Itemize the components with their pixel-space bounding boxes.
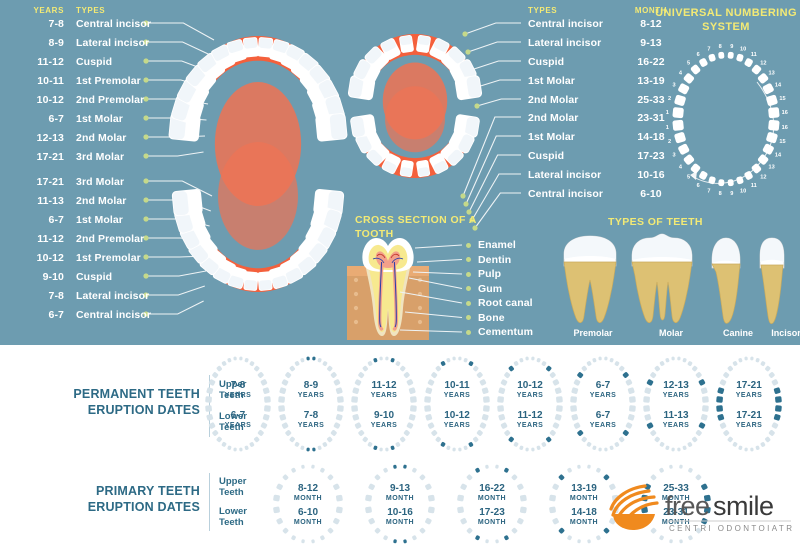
tooth-dim [395,361,401,367]
tooth-dim [452,447,456,451]
tooth-dim [727,365,734,372]
tooth-dim [587,539,591,543]
primary-column: 16-22MONTH17-23MONTH [449,462,535,546]
type-label: Lateral incisor [528,37,628,49]
tooth-dim [301,465,305,469]
tooth-dim [463,445,468,450]
tooth-dim [677,447,681,451]
cross-section-label: Root canal [478,297,533,309]
tooth-dim [764,365,771,372]
tooth-dim [326,436,333,443]
infographic-root: YEARS TYPES 7-8Central incisor8-9Lateral… [0,0,800,547]
years-value: 11-12 [18,56,64,68]
universal-tooth-upper [736,53,744,62]
primary-lower-value: 6-10MONTH [265,507,351,527]
universal-number-lower: 3 [672,152,675,158]
universal-tooth-upper [674,94,687,106]
tooth-dim [300,358,305,363]
tooth-dim [412,535,418,541]
primary-divider [209,473,210,531]
tooth-dim [732,361,738,367]
type-label: Cuspid [64,56,112,68]
tooth-dim [679,464,683,468]
value-range: 8-12 [265,483,351,494]
years-value: 7-8 [18,18,64,30]
tooth-highlighted [558,474,565,481]
tooth-dim [463,358,468,363]
tooth [257,271,273,291]
tooth-dim [446,445,451,450]
universal-number-lower: 1 [666,125,669,131]
tooth-dim [431,429,438,436]
left-table-row: 7-8Lateral incisor [18,286,151,305]
tooth [416,160,431,178]
tooth-dim [249,361,255,367]
tooth-dim [412,467,418,473]
type-label: 3rd Molar [64,176,124,188]
value-unit: YEARS [494,391,566,400]
types-of-teeth-title-wrap: TYPES OF TEETH [608,215,793,229]
years-value: 17-21 [18,151,64,163]
left-table-row: 6-71st Molar [18,210,151,229]
tooth-dim [665,358,670,363]
value-range: 8-9 [275,380,347,391]
tooth-dim [519,358,524,363]
tooth-dim [322,361,328,367]
tooth-dim [536,445,541,450]
tooth-dim [531,356,535,360]
tooth-dim [291,535,297,541]
permanent-lower-value: 6-7YEARS [567,410,639,430]
tooth-dim [399,436,406,443]
mini-mouth-diagram [357,462,443,546]
tooth-dim [723,429,730,436]
tooth-highlighted [403,539,407,543]
mini-mouth-diagram [348,352,420,456]
tooth [399,160,414,178]
tooth-dim [695,429,702,436]
tooth-dim [227,445,232,450]
value-range: 7-8 [202,380,274,391]
type-label: Lateral incisor [64,37,149,49]
left-table-row: 11-132nd Molar [18,191,151,210]
universal-number-lower: 16 [782,125,788,131]
bullet-dot [466,315,471,320]
tooth [454,75,482,101]
tooth-highlighted [393,465,397,469]
tooth [350,114,377,139]
tooth-dim [221,441,227,447]
universal-number-lower: 8 [719,191,722,197]
tooth-dim [289,436,296,443]
tooth-dim [732,441,738,447]
tooth-highlighted [403,464,407,468]
tooth-dim [385,447,389,451]
tooth-dim [541,442,547,448]
value-range: 6-7 [567,380,639,391]
tooth-cross-section-illustration [343,232,433,340]
mini-mouth-diagram [567,352,639,456]
tooth-dim [419,527,426,534]
tooth-dim [294,441,300,447]
permanent-column: 12-13YEARS11-13YEARS [640,352,712,456]
type-label: 2nd Premolar [64,233,144,245]
tooth-dim [485,465,489,469]
tooth-dim [768,371,775,378]
tooth-dim [513,441,519,447]
tooth-dim [750,356,754,360]
incisor-shape [760,238,784,324]
cross-section-label: Pulp [478,268,501,280]
universal-number-lower: 2 [668,139,671,145]
mini-mouth-diagram [202,352,274,456]
permanent-lower-value: 11-12YEARS [494,410,566,430]
tooth-dim [320,535,326,541]
primary-title-line1: PRIMARY TEETH [20,483,200,499]
tooth-dim [768,429,775,436]
years-value: 6-7 [18,309,64,321]
tooth-dim [317,445,322,450]
universal-number-lower: 14 [775,152,782,158]
universal-tooth-lower [674,132,687,144]
tooth-dim [233,356,237,360]
universal-numbering-diagram: 1234567891011121314151612345678910111213… [652,34,800,204]
tooth-dim [598,356,602,360]
type-label: Cuspid [528,150,628,162]
value-range: 17-21 [713,410,785,421]
tooth [243,37,259,58]
freesmile-logo[interactable]: free smile CENTRI ODONTOIATRICI [605,478,795,539]
tooth-highlighted [504,535,510,541]
value-unit: MONTH [265,518,351,527]
value-unit: YEARS [640,421,712,430]
left-table-row: 8-9Lateral incisor [18,33,151,52]
years-value: 11-13 [18,195,64,207]
primary-section-title: PRIMARY TEETH ERUPTION DATES [20,483,200,515]
tooth-dim [592,358,597,363]
tooth-dim [755,445,760,450]
tooth-dim [549,371,556,378]
tooth-dim [311,464,315,468]
tooth-dim [650,371,657,378]
tooth-highlighted [577,429,584,436]
primary-lower-label-l2: Teeth [219,517,247,528]
tooth-dim [327,474,334,481]
tooth-highlighted [440,361,446,367]
tooth-highlighted [622,429,629,436]
tooth-dim [659,467,665,473]
universal-tooth-upper [677,83,690,95]
tooth-dim [679,539,683,543]
tooth-dim [577,539,581,543]
tooth-dim [659,441,665,447]
tooth-dim [618,365,625,372]
value-range: 17-21 [713,380,785,391]
tooth-dim [669,465,673,469]
tooth-dim [326,365,333,372]
tooth-dim [760,361,766,367]
tooth-dim [665,445,670,450]
tooth-dim [282,527,289,534]
tooth-dim [618,436,625,443]
type-label: 2nd Molar [64,195,127,207]
canine-shape [712,238,740,323]
tooth-dim [379,356,383,360]
left-table-row: 7-8Central incisor [18,14,151,33]
tooth-dim [239,447,243,451]
left-table-row: 10-122nd Premolar [18,90,151,109]
primary-lower-value: 17-23MONTH [449,507,535,527]
universal-title-line1: UNIVERSAL NUMBERING [652,6,800,20]
tooth-dim [233,447,237,451]
cross-section-labels: EnamelDentinPulpGumRoot canalBoneCementu… [466,238,533,340]
left-table-row: 11-122nd Premolar [18,229,151,248]
value-range: 11-13 [640,410,712,421]
tooth-dim [504,371,511,378]
universal-tooth-upper [708,53,716,62]
tooth-dim [567,467,573,473]
permanent-upper-value: 11-12YEARS [348,380,420,400]
tooth-dim [367,441,373,447]
tooth-highlighted [306,447,310,451]
mini-mouth-diagram [275,352,347,456]
left-table-row: 10-121st Premolar [18,248,151,267]
permanent-upper-value: 7-8YEARS [202,380,274,400]
tooth-dim [362,365,369,372]
value-range: 16-22 [449,483,535,494]
type-label: 1st Molar [528,75,628,87]
universal-number-upper: 4 [679,71,683,77]
tooth-dim [446,358,451,363]
years-value: 10-11 [18,75,64,87]
tooth-dim [577,465,581,469]
tooth-dim [253,436,260,443]
tooth-dim [531,447,535,451]
tooth-dim [687,442,693,448]
tooth-dim [604,447,608,451]
tooth-dim [549,429,556,436]
tooth-highlighted [545,365,552,372]
mini-mouth-diagram [713,352,785,456]
primary-upper-value: 9-13MONTH [357,483,443,503]
universal-number-upper: 8 [719,44,722,50]
tooth-dim [586,441,592,447]
universal-number-lower: 10 [740,188,746,194]
permanent-upper-value: 17-21YEARS [713,380,785,400]
value-range: 11-12 [494,410,566,421]
tooth-dim [383,535,389,541]
cross-section-label-row: Root canal [466,296,533,311]
value-unit: YEARS [348,391,420,400]
tooth-dim [581,365,588,372]
tooth-dim [472,436,479,443]
value-range: 10-12 [494,380,566,391]
tooth-dim [374,474,381,481]
tooth-dim [435,436,442,443]
logo-graphic: free smile CENTRI ODONTOIATRICI [605,478,795,534]
tooth-dim [330,429,337,436]
tooth-dim [541,361,547,367]
tooth-highlighted [545,436,552,443]
value-range: 6-7 [202,410,274,421]
universal-numbering-title: UNIVERSAL NUMBERING SYSTEM [652,6,800,34]
permanent-lower-value: 10-12YEARS [421,410,493,430]
tooth-dim [458,356,462,360]
universal-number-upper: 10 [740,47,746,53]
cross-section-label-row: Gum [466,282,533,297]
tooth-dim [212,429,219,436]
tooth-dim [587,464,591,468]
logo-name-free: free [665,491,710,521]
value-range: 10-12 [421,410,493,421]
tooth-dim [525,447,529,451]
logo-name-smile: smile [713,491,774,521]
bullet-dot [466,257,471,262]
primary-arch-diagram [340,18,490,198]
universal-tooth-upper [768,107,780,118]
tooth-dim [744,447,748,451]
universal-number-upper: 5 [687,60,690,66]
type-label: 2nd Molar [64,132,127,144]
universal-tooth-lower [677,143,690,155]
tooth-dim [598,447,602,451]
tooth-dim [216,365,223,372]
universal-number-lower: 9 [730,191,733,197]
type-label: Central incisor [528,18,628,30]
universal-number-upper: 14 [775,83,782,89]
tooth-dim [385,356,389,360]
value-range: 6-10 [265,507,351,518]
left-table-row: 9-10Cuspid [18,267,151,286]
universal-number-lower: 13 [768,164,774,170]
left-table-row: 17-213rd Molar [18,172,151,191]
tooth-dim [367,361,373,367]
tooth-dim [358,371,365,378]
primary-upper-value: 16-22MONTH [449,483,535,503]
primary-lower-label: Lower Teeth [219,506,247,528]
tooth-dim [320,467,326,473]
tooth-dim [687,361,693,367]
universal-tooth-upper [757,72,769,84]
bullet-dot [466,272,471,277]
years-value: 7-8 [18,290,64,302]
tooth-dim [419,474,426,481]
tooth-dim [586,361,592,367]
tooth-dim [212,371,219,378]
value-unit: YEARS [421,391,493,400]
permanent-lower-value: 9-10YEARS [348,410,420,430]
cross-section-label: Dentin [478,254,511,266]
tooth-dim [358,429,365,436]
universal-tooth-upper [744,57,754,67]
type-label: Cuspid [64,271,112,283]
tooth-dim [495,539,499,543]
universal-number-upper: 3 [672,83,675,89]
tooth-type-caption: Molar [636,328,706,338]
primary-lower-label-l1: Lower [219,506,247,517]
value-unit: YEARS [421,421,493,430]
value-unit: YEARS [713,421,785,430]
tooth-dim [688,467,694,473]
mini-mouth-diagram [265,462,351,546]
primary-column: 8-12MONTH6-10MONTH [265,462,351,546]
tooth-dim [654,436,661,443]
mini-mouth-diagram [421,352,493,456]
tooth-dim [435,365,442,372]
type-label: Central incisor [64,18,151,30]
tooth-dim [239,356,243,360]
tooth-dim [536,358,541,363]
tooth-dim [317,358,322,363]
tooth-dim [285,371,292,378]
tooth-highlighted [373,445,378,450]
universal-number-lower: 5 [687,175,690,181]
years-value: 12-13 [18,132,64,144]
cross-section-label-row: Enamel [466,238,533,253]
logo-tagline: CENTRI ODONTOIATRICI [669,524,795,533]
tooth-highlighted [622,371,629,378]
universal-tooth-upper [672,107,684,118]
tooth-dim [395,442,401,448]
years-value: 10-12 [18,252,64,264]
types-of-teeth-illustration [552,232,797,327]
tooth-dim [764,436,771,443]
tooth-highlighted [390,358,395,363]
permanent-upper-value: 6-7YEARS [567,380,639,400]
years-value: 17-21 [18,176,64,188]
tooth-dim [677,356,681,360]
molar-shape [632,234,692,323]
tooth-dim [495,464,499,468]
tooth-highlighted [468,361,474,367]
tooth-dim [695,371,702,378]
tooth-dim [399,365,406,372]
value-unit: YEARS [202,421,274,430]
value-unit: MONTH [449,494,535,503]
years-value: 9-10 [18,271,64,283]
left-table-row: 6-7Central incisor [18,305,151,324]
tooth-dim [671,447,675,451]
tooth-dim [458,447,462,451]
tooth-type-caption: Premolar [558,328,628,338]
value-unit: YEARS [567,421,639,430]
universal-tooth-lower [698,170,708,180]
tooth-highlighted [475,467,481,473]
tooth-dim [592,445,597,450]
tooth-dim [744,356,748,360]
universal-number-lower: 15 [779,139,785,145]
tooth-dim [476,371,483,378]
tooth-dim [723,371,730,378]
tooth-dim [244,445,249,450]
permanent-section-title: PERMANENT TEETH ERUPTION DATES [20,386,200,418]
tooth-highlighted [468,442,474,448]
tooth-dim [738,358,743,363]
tooth-dim [669,539,673,543]
tooth-dim [691,436,698,443]
tooth-dim [511,527,518,534]
left-table-row: 10-111st Premolar [18,71,151,90]
bullet-dot [466,286,471,291]
tooth-dim [614,361,620,367]
mini-mouth-diagram [449,462,535,546]
tooth-dim [596,535,602,541]
tooth-dim [485,539,489,543]
bullet-dot [466,243,471,248]
type-label: Lateral incisor [528,169,628,181]
permanent-column: 8-9YEARS7-8YEARS [275,352,347,456]
permanent-column: 11-12YEARS9-10YEARS [348,352,420,456]
